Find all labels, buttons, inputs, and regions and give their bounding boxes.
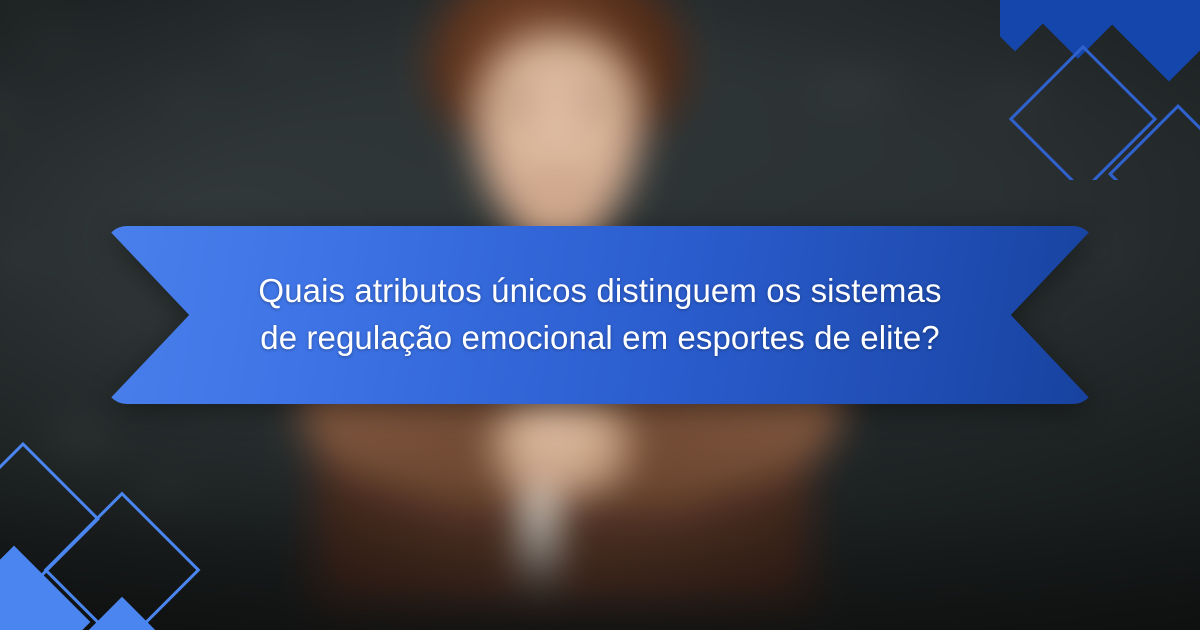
social-card: Quais atributos únicos distinguem os sis…: [0, 0, 1200, 630]
question-banner: Quais atributos únicos distinguem os sis…: [105, 226, 1095, 404]
question-text: Quais atributos únicos distinguem os sis…: [225, 268, 975, 362]
